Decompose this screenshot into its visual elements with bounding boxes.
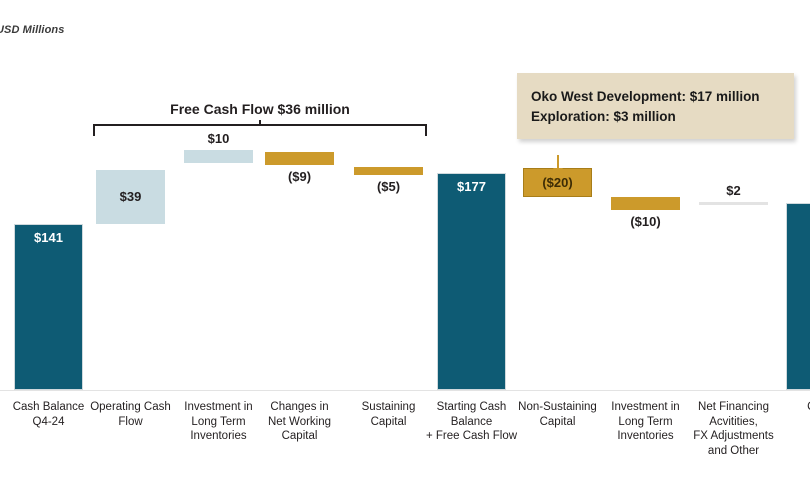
bracket-center-tick: [259, 120, 261, 126]
value-label-8: $2: [699, 183, 768, 198]
category-label-5: Starting CashBalance+ Free Cash Flow: [423, 400, 520, 444]
free-cash-flow-bracket: [93, 120, 427, 138]
value-label-7: ($10): [611, 214, 680, 229]
category-label-line: Net Working: [251, 415, 348, 430]
category-label-line: Capital: [251, 429, 348, 444]
bar-8: [699, 202, 768, 205]
category-label-line: FX Adjustments: [685, 429, 782, 444]
oko-west-callout: Oko West Development: $17 million Explor…: [517, 73, 794, 139]
category-label-line: and Other: [685, 444, 782, 459]
category-label-line: Inventories: [597, 429, 694, 444]
value-label-6: ($20): [523, 175, 592, 190]
bar-7: [611, 197, 680, 210]
category-label-8: Net FinancingAcvitities,FX Adjustmentsan…: [685, 400, 782, 458]
category-label-line: Starting Cash: [423, 400, 520, 415]
callout-line-development: Oko West Development: $17 million: [531, 87, 780, 107]
category-label-line: Capital: [509, 415, 606, 430]
value-label-5: $177: [437, 179, 506, 194]
bar-4: [354, 167, 423, 175]
category-label-line: Investment in: [597, 400, 694, 415]
category-label-1: Operating CashFlow: [82, 400, 179, 429]
value-label-1: $39: [96, 189, 165, 204]
callout-line-exploration: Exploration: $3 million: [531, 107, 780, 127]
category-label-6: Non-SustainingCapital: [509, 400, 606, 429]
category-label-3: Changes inNet WorkingCapital: [251, 400, 348, 444]
category-label-line: Net Financing: [685, 400, 782, 415]
bar-0: [14, 224, 83, 390]
bar-2: [184, 150, 253, 163]
category-label-9: CashQ: [772, 400, 810, 429]
bracket-left-tick: [93, 124, 95, 136]
category-label-line: Long Term: [597, 415, 694, 430]
value-label-9: $1: [786, 209, 810, 224]
category-label-line: Balance: [423, 415, 520, 430]
category-label-line: Changes in: [251, 400, 348, 415]
category-label-line: + Free Cash Flow: [423, 429, 520, 444]
category-label-line: Flow: [82, 415, 179, 430]
bar-3: [265, 152, 334, 165]
bracket-right-tick: [425, 124, 427, 136]
free-cash-flow-bracket-label: Free Cash Flow $36 million: [93, 101, 427, 117]
waterfall-chart: USD Millions $141$39$10($9)($5)$177($20)…: [0, 0, 810, 480]
bar-9: [786, 203, 810, 390]
axis-baseline: [0, 390, 810, 391]
value-label-0: $141: [14, 230, 83, 245]
bar-5: [437, 173, 506, 390]
category-label-line: Non-Sustaining: [509, 400, 606, 415]
category-label-line: Cash: [772, 400, 810, 415]
category-label-7: Investment inLong TermInventories: [597, 400, 694, 444]
category-label-line: Acvitities,: [685, 415, 782, 430]
value-label-3: ($9): [265, 169, 334, 184]
category-label-line: Operating Cash: [82, 400, 179, 415]
units-caption: USD Millions: [0, 24, 64, 36]
callout-arrow-head: [553, 168, 563, 175]
value-label-4: ($5): [354, 179, 423, 194]
category-label-line: Q: [772, 415, 810, 430]
